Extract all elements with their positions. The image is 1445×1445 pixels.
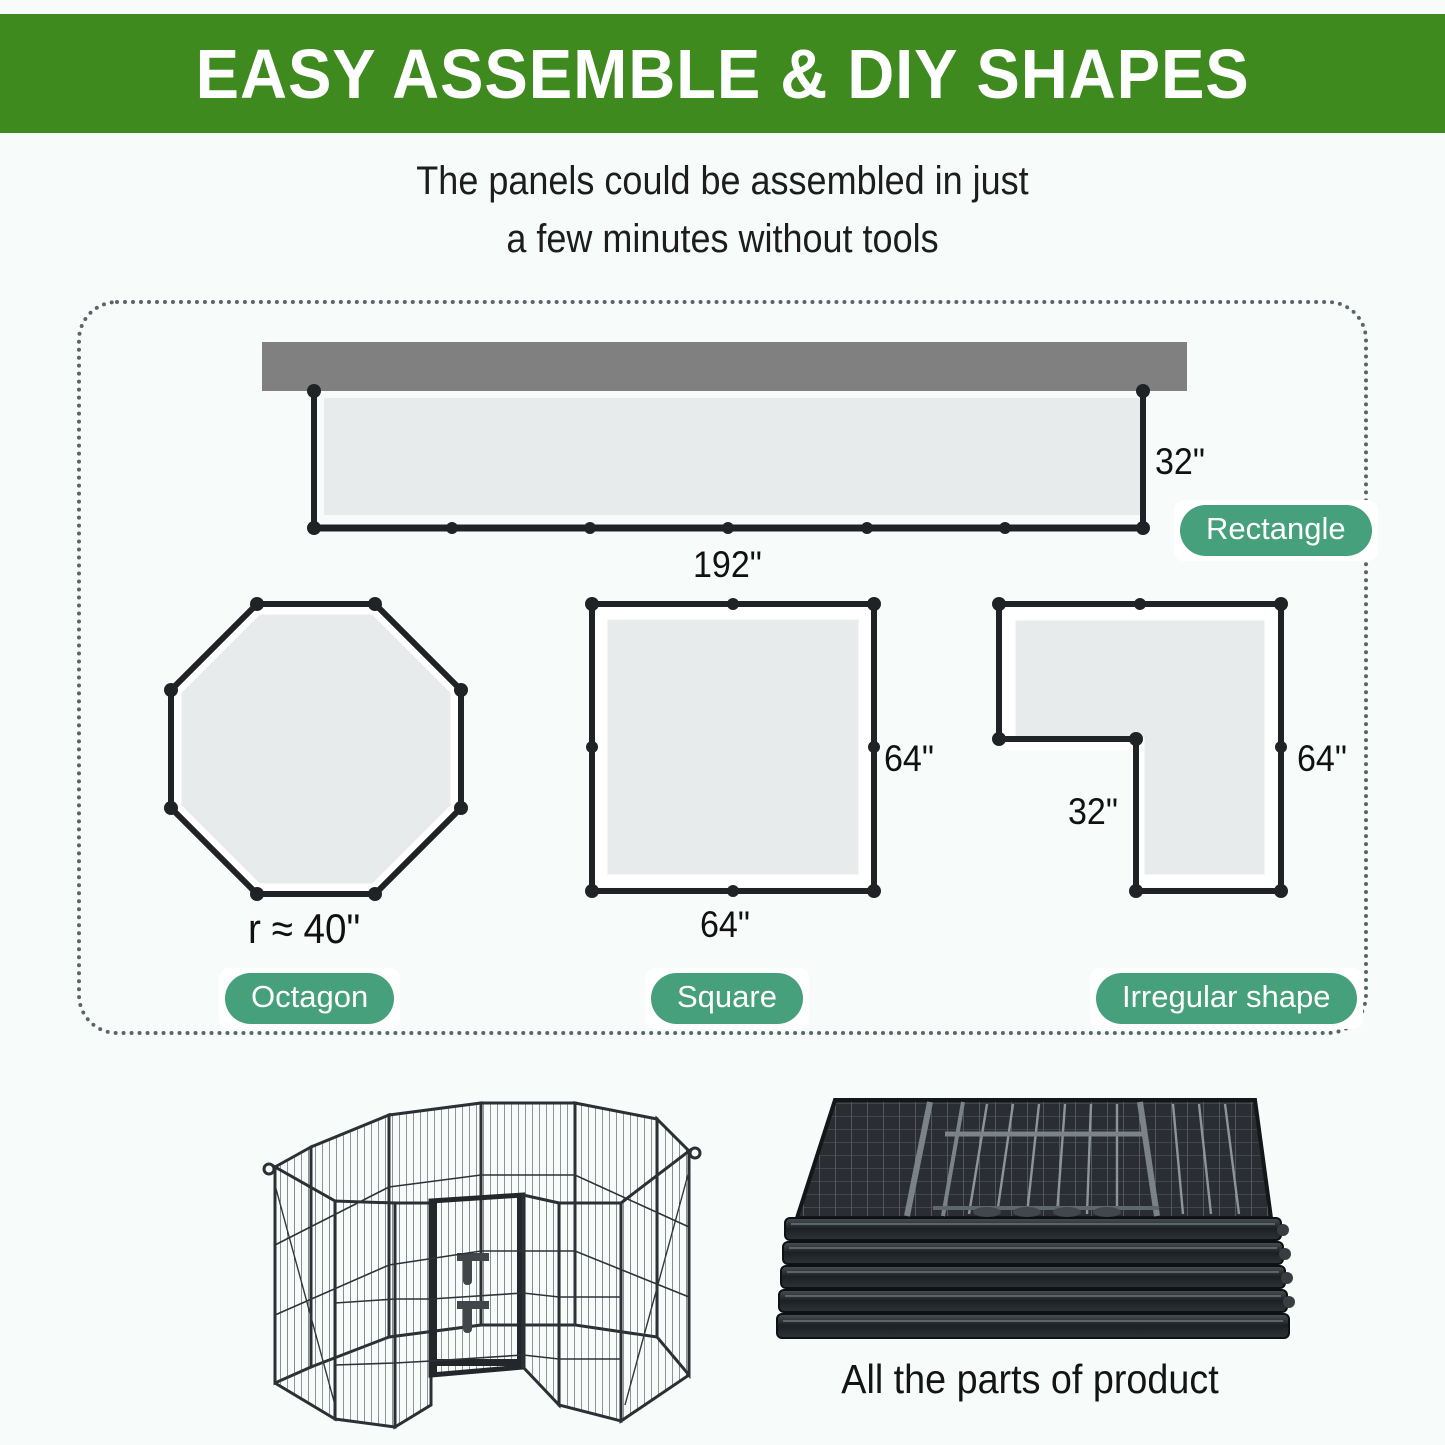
irregular-panel-fill: [1009, 614, 1271, 881]
joint-dot: [164, 683, 178, 697]
hinge: [973, 1207, 1001, 1217]
irregular-notch-label: 32": [1068, 791, 1118, 833]
joint-dot: [1274, 884, 1288, 898]
joint-dot: [307, 521, 321, 535]
photo-folded-stack: [755, 1090, 1295, 1365]
octagon-radius-label: r ≈ 40": [248, 905, 360, 953]
joint-dot: [250, 887, 264, 901]
octagon-badge-wrap: Octagon: [219, 968, 400, 1029]
rectangle-panel-fill: [324, 398, 1141, 515]
rectangle-height-label: 32": [1155, 441, 1205, 483]
joint-dot: [585, 884, 599, 898]
playpen-panel: [559, 1203, 621, 1421]
playpen-gate: [431, 1195, 523, 1377]
joint-dot: [861, 522, 873, 534]
joint-dot: [1129, 732, 1143, 746]
rectangle-badge-wrap: Rectangle: [1174, 500, 1378, 561]
joint-dot: [999, 522, 1011, 534]
joint-dot: [368, 887, 382, 901]
joint-dot: [454, 683, 468, 697]
subtitle-block: The panels could be assembled in just a …: [0, 152, 1445, 268]
joint-dot: [727, 598, 739, 610]
joint-dot: [454, 801, 468, 815]
subtitle-line-1: The panels could be assembled in just: [72, 152, 1373, 210]
connector-hook: [690, 1148, 700, 1158]
joint-dot: [1136, 521, 1150, 535]
joint-dot: [868, 741, 880, 753]
joint-dot: [1136, 384, 1150, 398]
playpen-panel: [395, 1203, 431, 1427]
joint-dot: [867, 884, 881, 898]
joint-dot: [1129, 884, 1143, 898]
hinge: [1093, 1207, 1121, 1217]
joint-dot: [250, 597, 264, 611]
shape-rectangle: [262, 342, 1192, 542]
rectangle-gray-bar: [262, 342, 1187, 391]
gate-latch: [463, 1305, 472, 1333]
joint-dot: [992, 597, 1006, 611]
page-title: EASY ASSEMBLE & DIY SHAPES: [195, 39, 1249, 109]
joint-dot: [446, 522, 458, 534]
rectangle-width-label: 192": [693, 544, 762, 586]
irregular-height-label: 64": [1297, 738, 1347, 780]
square-panel-fill: [601, 613, 865, 881]
folded-stack-caption: All the parts of product: [763, 1356, 1297, 1403]
joint-dot: [722, 522, 734, 534]
joint-dot: [992, 732, 1006, 746]
hinge: [1283, 1296, 1295, 1308]
square-height-label: 64": [884, 738, 934, 780]
joint-dot: [1134, 598, 1146, 610]
joint-dot: [307, 384, 321, 398]
playpen-panel: [335, 1201, 395, 1427]
shape-octagon: [160, 592, 480, 912]
header-banner: EASY ASSEMBLE & DIY SHAPES: [0, 14, 1445, 133]
gate-latch: [457, 1301, 489, 1309]
badge-square[interactable]: Square: [651, 973, 803, 1024]
shape-square: [588, 600, 878, 895]
badge-octagon[interactable]: Octagon: [225, 973, 394, 1024]
joint-dot: [867, 597, 881, 611]
joint-dot: [727, 885, 739, 897]
hinge: [1281, 1272, 1293, 1284]
hinge: [1053, 1207, 1081, 1217]
octagon-panel-fill: [175, 608, 457, 890]
joint-dot: [585, 597, 599, 611]
joint-dot: [1274, 597, 1288, 611]
shape-irregular: [995, 600, 1285, 895]
stack-top-face: [797, 1100, 1271, 1218]
hinge: [1279, 1248, 1291, 1260]
joint-dot: [586, 741, 598, 753]
irregular-badge-wrap: Irregular shape: [1090, 968, 1363, 1029]
stack-layers: [777, 1218, 1295, 1338]
square-width-label: 64": [700, 904, 750, 946]
badge-rectangle[interactable]: Rectangle: [1180, 505, 1372, 556]
playpen-panel: [523, 1195, 559, 1405]
subtitle-line-2: a few minutes without tools: [72, 210, 1373, 268]
joint-dot: [368, 597, 382, 611]
joint-dot: [1275, 741, 1287, 753]
joint-dot: [584, 522, 596, 534]
hinge: [1013, 1207, 1041, 1217]
badge-irregular-shape[interactable]: Irregular shape: [1096, 973, 1357, 1024]
photo-assembled-playpen: [245, 1075, 715, 1440]
square-badge-wrap: Square: [645, 968, 809, 1029]
joint-dot: [164, 801, 178, 815]
hinge: [1277, 1224, 1289, 1236]
connector-hook: [264, 1164, 274, 1174]
gate-latch: [463, 1257, 472, 1285]
